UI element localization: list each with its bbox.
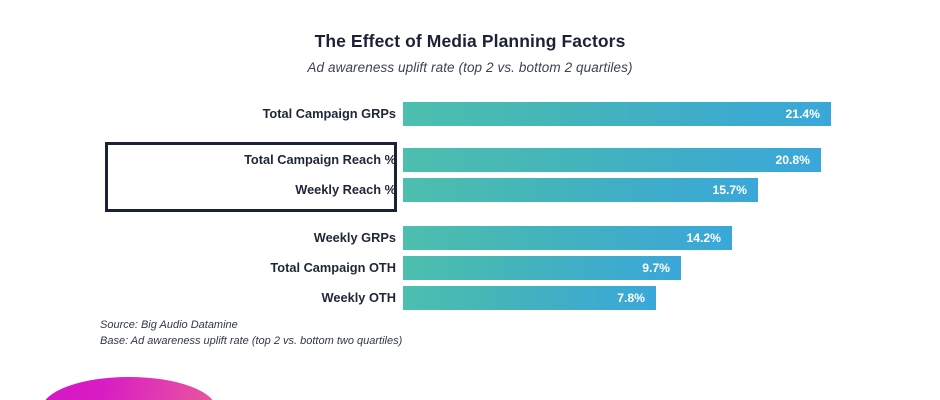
bar-value-label: 14.2% xyxy=(686,226,721,250)
footnote-base: Base: Ad awareness uplift rate (top 2 vs… xyxy=(100,334,402,350)
bar-value-label: 20.8% xyxy=(775,148,810,172)
bar-row: Weekly OTH7.8% xyxy=(0,286,940,310)
footnote-source: Source: Big Audio Datamine xyxy=(100,318,402,334)
bar-category-label: Weekly OTH xyxy=(120,286,396,310)
bar: 21.4% xyxy=(403,102,831,126)
bar-value-label: 21.4% xyxy=(785,102,820,126)
bar-value-label: 7.8% xyxy=(617,286,645,310)
bar-row: Weekly GRPs14.2% xyxy=(0,226,940,250)
bar: 9.7% xyxy=(403,256,681,280)
bar: 20.8% xyxy=(403,148,821,172)
bar: 15.7% xyxy=(403,178,758,202)
highlight-box-reach-metrics xyxy=(105,142,397,212)
bar-category-label: Weekly GRPs xyxy=(120,226,396,250)
bar-row: Total Campaign OTH9.7% xyxy=(0,256,940,280)
bar-category-label: Total Campaign GRPs xyxy=(120,102,396,126)
bar: 14.2% xyxy=(403,226,732,250)
bar-value-label: 9.7% xyxy=(642,256,670,280)
bar-category-label: Total Campaign OTH xyxy=(120,256,396,280)
chart-footnotes: Source: Big Audio Datamine Base: Ad awar… xyxy=(100,318,402,349)
bar: 7.8% xyxy=(403,286,656,310)
chart-slide: The Effect of Media Planning Factors Ad … xyxy=(0,0,940,400)
bar-row: Total Campaign GRPs21.4% xyxy=(0,102,940,126)
bar-value-label: 15.7% xyxy=(712,178,747,202)
